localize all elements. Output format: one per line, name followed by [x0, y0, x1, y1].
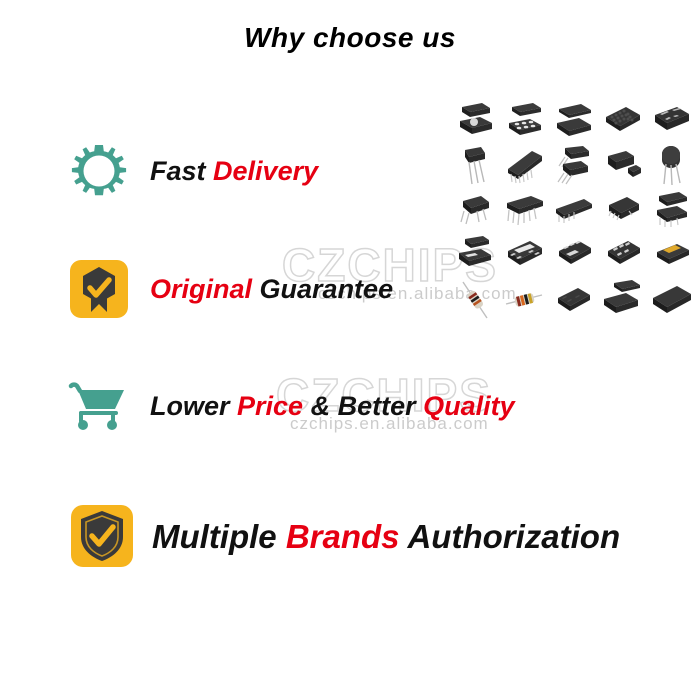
- chip-item: [550, 234, 597, 276]
- feature-label: Original Guarantee: [150, 276, 393, 303]
- chip-item: [647, 190, 694, 232]
- feature-text-part: Brands: [286, 518, 400, 555]
- feature-text-part: Lower: [150, 391, 237, 421]
- feature-text-part: & Better: [303, 391, 423, 421]
- chip-item: [501, 278, 548, 322]
- feature-text-part: Multiple: [152, 518, 286, 555]
- chip-item: [550, 278, 597, 322]
- chip-item: [501, 144, 548, 188]
- badge-check-icon: [66, 256, 132, 322]
- chip-item: [501, 234, 548, 276]
- shield-check-icon: [66, 500, 138, 572]
- chip-item: [647, 144, 694, 188]
- feature-row-original-guarantee: Original Guarantee: [66, 256, 393, 322]
- chip-item: [550, 144, 597, 188]
- chip-item: [598, 190, 645, 232]
- feature-text-part: Authorization: [400, 518, 621, 555]
- chip-item: [598, 278, 645, 322]
- chip-item: [501, 190, 548, 232]
- chip-item: [647, 100, 694, 142]
- chip-item: [452, 278, 499, 322]
- feature-row-multiple-brands: Multiple Brands Authorization: [66, 500, 620, 572]
- chip-collage: [452, 100, 694, 322]
- promo-banner: Why choose us: [0, 0, 700, 700]
- chip-item: [647, 234, 694, 276]
- feature-text-part: Quality: [423, 391, 515, 421]
- feature-row-lower-price: Lower Price & Better Quality: [66, 376, 515, 436]
- chip-item: [452, 144, 499, 188]
- feature-label: Multiple Brands Authorization: [152, 520, 620, 553]
- chip-item: [501, 100, 548, 142]
- gear-icon: [66, 138, 132, 204]
- chip-item: [647, 278, 694, 322]
- shopping-cart-icon: [66, 376, 132, 436]
- chip-item: [452, 190, 499, 232]
- chip-item: [598, 100, 645, 142]
- chip-item: [452, 234, 499, 276]
- chip-item: [598, 234, 645, 276]
- feature-text-part: Guarantee: [260, 274, 394, 304]
- feature-text-part: Delivery: [213, 156, 318, 186]
- chip-item: [452, 100, 499, 142]
- feature-text-part: Original: [150, 274, 260, 304]
- chip-item: [550, 190, 597, 232]
- page-title: Why choose us: [0, 22, 700, 54]
- feature-row-fast-delivery: Fast Delivery: [66, 138, 318, 204]
- feature-label: Fast Delivery: [150, 158, 318, 185]
- feature-text-part: Fast: [150, 156, 213, 186]
- feature-text-part: Price: [237, 391, 303, 421]
- feature-label: Lower Price & Better Quality: [150, 393, 515, 420]
- chip-item: [598, 144, 645, 188]
- chip-item: [550, 100, 597, 142]
